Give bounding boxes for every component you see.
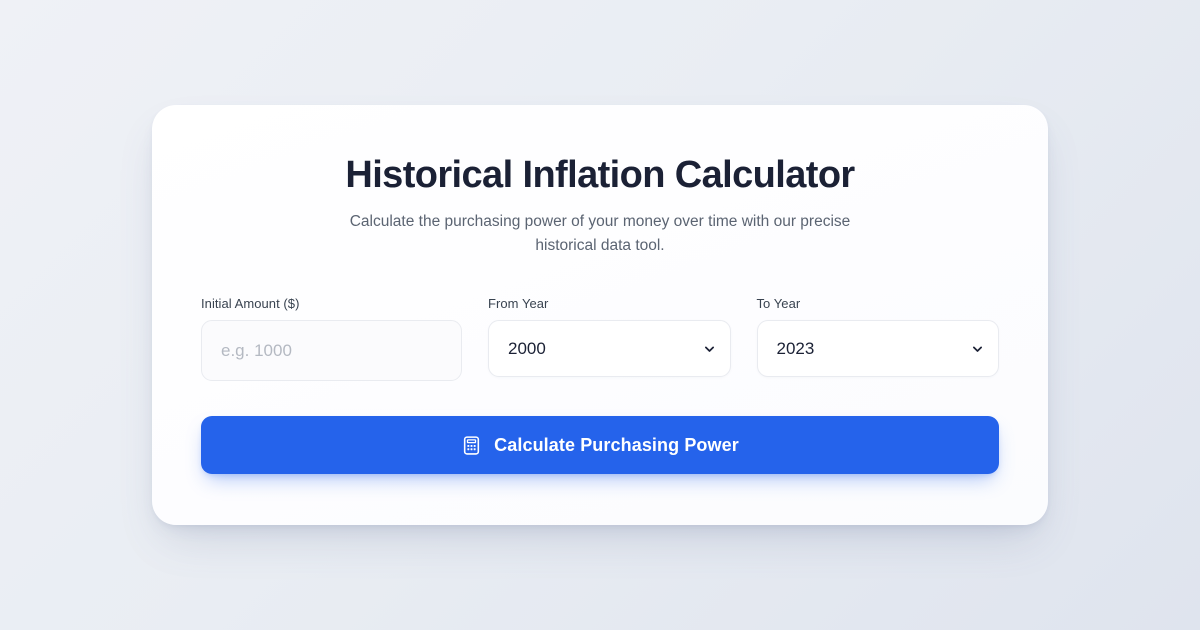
label-initial-amount: Initial Amount ($) bbox=[201, 296, 462, 312]
label-to-year: To Year bbox=[757, 296, 1000, 312]
field-initial-amount: Initial Amount ($) bbox=[201, 296, 462, 381]
from-year-select-wrap: 2000 bbox=[488, 320, 731, 377]
calculator-card: Historical Inflation Calculator Calculat… bbox=[152, 105, 1048, 525]
page-title: Historical Inflation Calculator bbox=[201, 153, 999, 197]
to-year-select[interactable]: 2023 bbox=[757, 320, 1000, 377]
page-background: Historical Inflation Calculator Calculat… bbox=[0, 0, 1200, 630]
calculator-form: Initial Amount ($) From Year 2000 bbox=[201, 296, 999, 381]
calculator-icon bbox=[461, 435, 482, 456]
field-to-year: To Year 2023 bbox=[757, 296, 1000, 381]
calculate-purchasing-power-button[interactable]: Calculate Purchasing Power bbox=[201, 416, 999, 474]
label-from-year: From Year bbox=[488, 296, 731, 312]
field-from-year: From Year 2000 bbox=[488, 296, 731, 381]
page-subtitle: Calculate the purchasing power of your m… bbox=[340, 210, 860, 258]
from-year-select[interactable]: 2000 bbox=[488, 320, 731, 377]
initial-amount-input[interactable] bbox=[201, 320, 462, 381]
to-year-select-wrap: 2023 bbox=[757, 320, 1000, 377]
calculate-button-label: Calculate Purchasing Power bbox=[494, 435, 739, 456]
